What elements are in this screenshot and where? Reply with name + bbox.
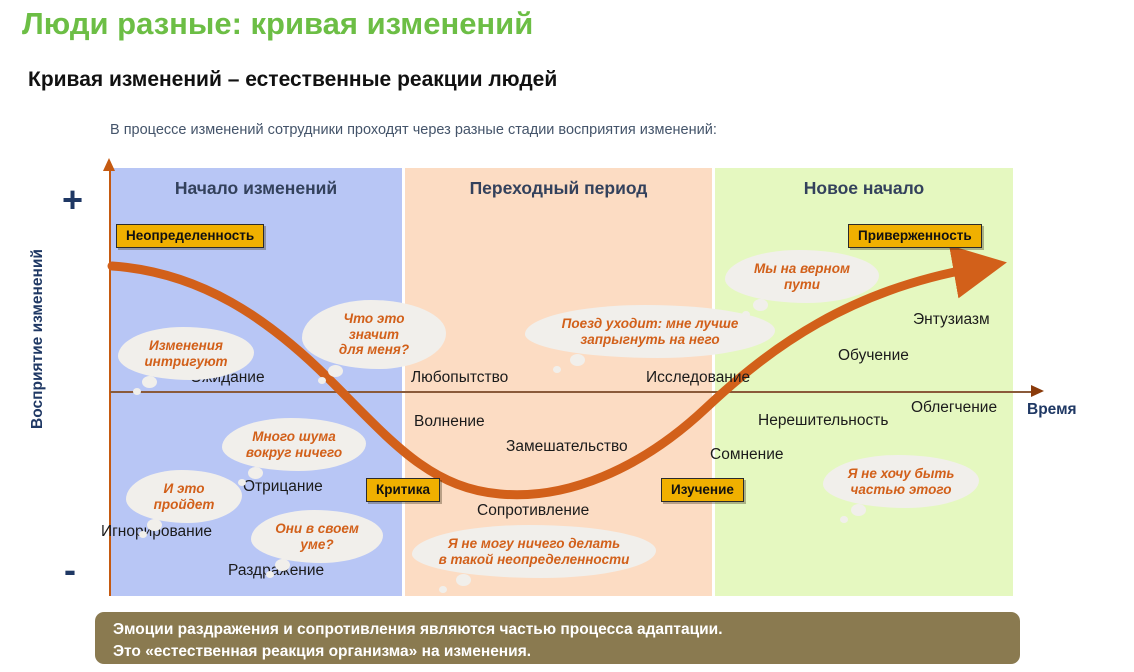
stage-label-enthusiasm: Энтузиазм bbox=[913, 311, 990, 329]
zone-title-new-beginning: Новое начало bbox=[715, 178, 1013, 199]
cloud-are-they-out-of-mind: Они в своем уме? bbox=[251, 510, 383, 563]
cloud-train-is-leaving: Поезд уходит: мне лучше запрыгнуть на не… bbox=[525, 305, 775, 358]
stage-label-learning: Обучение bbox=[838, 347, 909, 365]
zone-title-beginning: Начало изменений bbox=[110, 178, 402, 199]
footer-line-1: Эмоции раздражения и сопротивления являю… bbox=[113, 619, 1020, 641]
cloud-we-are-on-right-track: Мы на верном пути bbox=[725, 250, 879, 303]
stage-label-excitement: Волнение bbox=[414, 413, 485, 431]
x-axis-line bbox=[110, 391, 1033, 393]
stage-label-resistance: Сопротивление bbox=[477, 502, 589, 520]
x-axis-arrow-icon bbox=[1031, 385, 1044, 397]
stage-label-doubt: Сомнение bbox=[710, 446, 784, 464]
cloud-this-too-shall-pass: И это пройдет bbox=[126, 470, 242, 523]
cloud-cannot-do-anything: Я не могу ничего делать в такой неопреде… bbox=[412, 525, 656, 578]
change-curve-chart: Начало изменений Переходный период Новое… bbox=[0, 0, 1134, 672]
stage-label-denial: Отрицание bbox=[243, 478, 323, 496]
y-axis-plus-marker: + bbox=[62, 182, 83, 218]
x-axis-label: Время bbox=[1027, 401, 1077, 419]
y-axis-minus-marker: - bbox=[64, 552, 76, 588]
badge-criticism[interactable]: Критика bbox=[366, 478, 440, 502]
stage-label-exploration: Исследование bbox=[646, 369, 750, 387]
badge-uncertainty[interactable]: Неопределенность bbox=[116, 224, 264, 248]
stage-label-curiosity: Любопытство bbox=[411, 369, 508, 387]
badge-commitment[interactable]: Приверженность bbox=[848, 224, 982, 248]
stage-label-relief: Облегчение bbox=[911, 399, 997, 417]
stage-label-confusion: Замешательство bbox=[506, 438, 628, 456]
cloud-i-dont-want-to-be-part: Я не хочу быть частью этого bbox=[823, 455, 979, 508]
y-axis-arrow-icon bbox=[103, 158, 115, 171]
badge-study[interactable]: Изучение bbox=[661, 478, 744, 502]
y-axis-label: Восприятие изменений bbox=[29, 239, 47, 439]
footer-banner: Эмоции раздражения и сопротивления являю… bbox=[95, 612, 1020, 664]
zone-title-transition: Переходный период bbox=[405, 178, 712, 199]
cloud-changes-intrigue: Изменения интригуют bbox=[118, 327, 254, 380]
cloud-what-does-it-mean: Что это значит для меня? bbox=[302, 300, 446, 369]
footer-line-2: Это «естественная реакция организма» на … bbox=[113, 641, 1020, 663]
stage-label-hesitation: Нерешительность bbox=[758, 412, 888, 430]
cloud-much-ado-about-nothing: Много шума вокруг ничего bbox=[222, 418, 366, 471]
